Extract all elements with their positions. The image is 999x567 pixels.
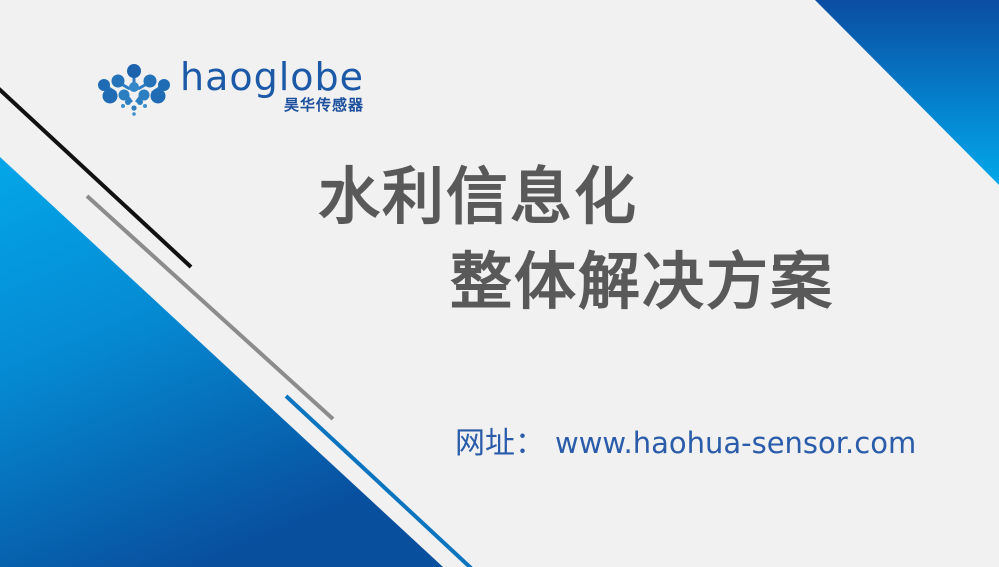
logo-wordmark-group: haoglobe 昊华传感器 [180, 58, 364, 113]
website-url[interactable]: www.haohua-sensor.com [555, 426, 916, 460]
website-label: 网址： [455, 418, 545, 462]
logo-subtitle-cn: 昊华传感器 [284, 98, 364, 113]
top-right-blue-triangle [815, 0, 999, 185]
title-line-1: 水利信息化 [300, 162, 920, 231]
title-slide: haoglobe 昊华传感器 水利信息化 整体解决方案 网址： www.haoh… [0, 0, 999, 567]
haoglobe-network-dots-icon [96, 62, 172, 116]
brand-logo[interactable]: haoglobe 昊华传感器 [96, 58, 364, 116]
blue-diagonal-line [286, 396, 472, 567]
logo-wordmark: haoglobe [180, 58, 364, 96]
gray-diagonal-line [87, 196, 333, 419]
page-title: 水利信息化 整体解决方案 [300, 162, 920, 317]
website-line[interactable]: 网址： www.haohua-sensor.com [455, 418, 916, 462]
title-line-2: 整体解决方案 [300, 247, 920, 316]
